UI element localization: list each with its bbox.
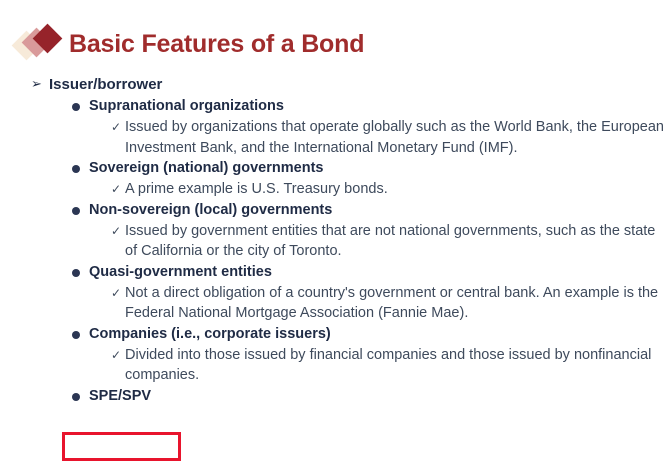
list-item-label: Divided into those issued by financial c… [125, 345, 665, 386]
list-item-issuer-borrower: ➢ Issuer/borrower [0, 74, 667, 95]
three-diamonds-logo-icon [14, 24, 66, 64]
check-bullet-icon: ✓ [111, 283, 125, 304]
red-highlight-box [62, 432, 181, 461]
list-item-label-wrapper: Not a direct obligation of a country's g… [125, 283, 665, 324]
list-item-quasi-government-entities: Quasi-government entities [0, 262, 667, 283]
list-item-label: Issued by organizations that operate glo… [125, 117, 665, 158]
list-item-companies-detail: ✓ Divided into those issued by financial… [0, 345, 667, 386]
slide-title-row: Basic Features of a Bond [0, 22, 364, 66]
underlined-sentence: Not a direct obligation of a country's g… [125, 285, 540, 301]
list-item-companies: Companies (i.e., corporate issuers) [0, 324, 667, 345]
list-item-label: Sovereign (national) governments [89, 158, 323, 179]
list-item-label: SPE/SPV [89, 386, 151, 407]
list-item-non-sovereign-detail: ✓ Issued by government entities that are… [0, 221, 667, 262]
list-item-supranational-detail: ✓ Issued by organizations that operate g… [0, 117, 667, 158]
list-item-supranational-organizations: Supranational organizations [0, 96, 667, 117]
list-item-label: Companies (i.e., corporate issuers) [89, 324, 331, 345]
bullet-list: ➢ Issuer/borrower Supranational organiza… [0, 74, 667, 407]
check-bullet-icon: ✓ [111, 221, 125, 242]
arrow-bullet-icon: ➢ [31, 74, 49, 95]
list-item-sovereign-governments: Sovereign (national) governments [0, 158, 667, 179]
list-item-quasi-government-detail: ✓ Not a direct obligation of a country's… [0, 283, 667, 324]
slide: Basic Features of a Bond ➢ Issuer/borrow… [0, 0, 667, 466]
check-bullet-icon: ✓ [111, 117, 125, 138]
list-item-label: Issuer/borrower [49, 74, 162, 95]
list-item-sovereign-detail: ✓ A prime example is U.S. Treasury bonds… [0, 179, 667, 200]
check-bullet-icon: ✓ [111, 179, 125, 200]
list-item-label: Quasi-government entities [89, 262, 272, 283]
list-item-spe-spv: SPE/SPV [0, 386, 667, 407]
list-item-label: Issued by government entities that are n… [125, 221, 665, 262]
list-item-label: Non-sovereign (local) governments [89, 200, 332, 221]
list-item-label: Supranational organizations [89, 96, 284, 117]
check-bullet-icon: ✓ [111, 345, 125, 366]
list-item-label: A prime example is U.S. Treasury bonds. [125, 179, 388, 200]
list-item-non-sovereign-governments: Non-sovereign (local) governments [0, 200, 667, 221]
page-title: Basic Features of a Bond [69, 30, 364, 59]
